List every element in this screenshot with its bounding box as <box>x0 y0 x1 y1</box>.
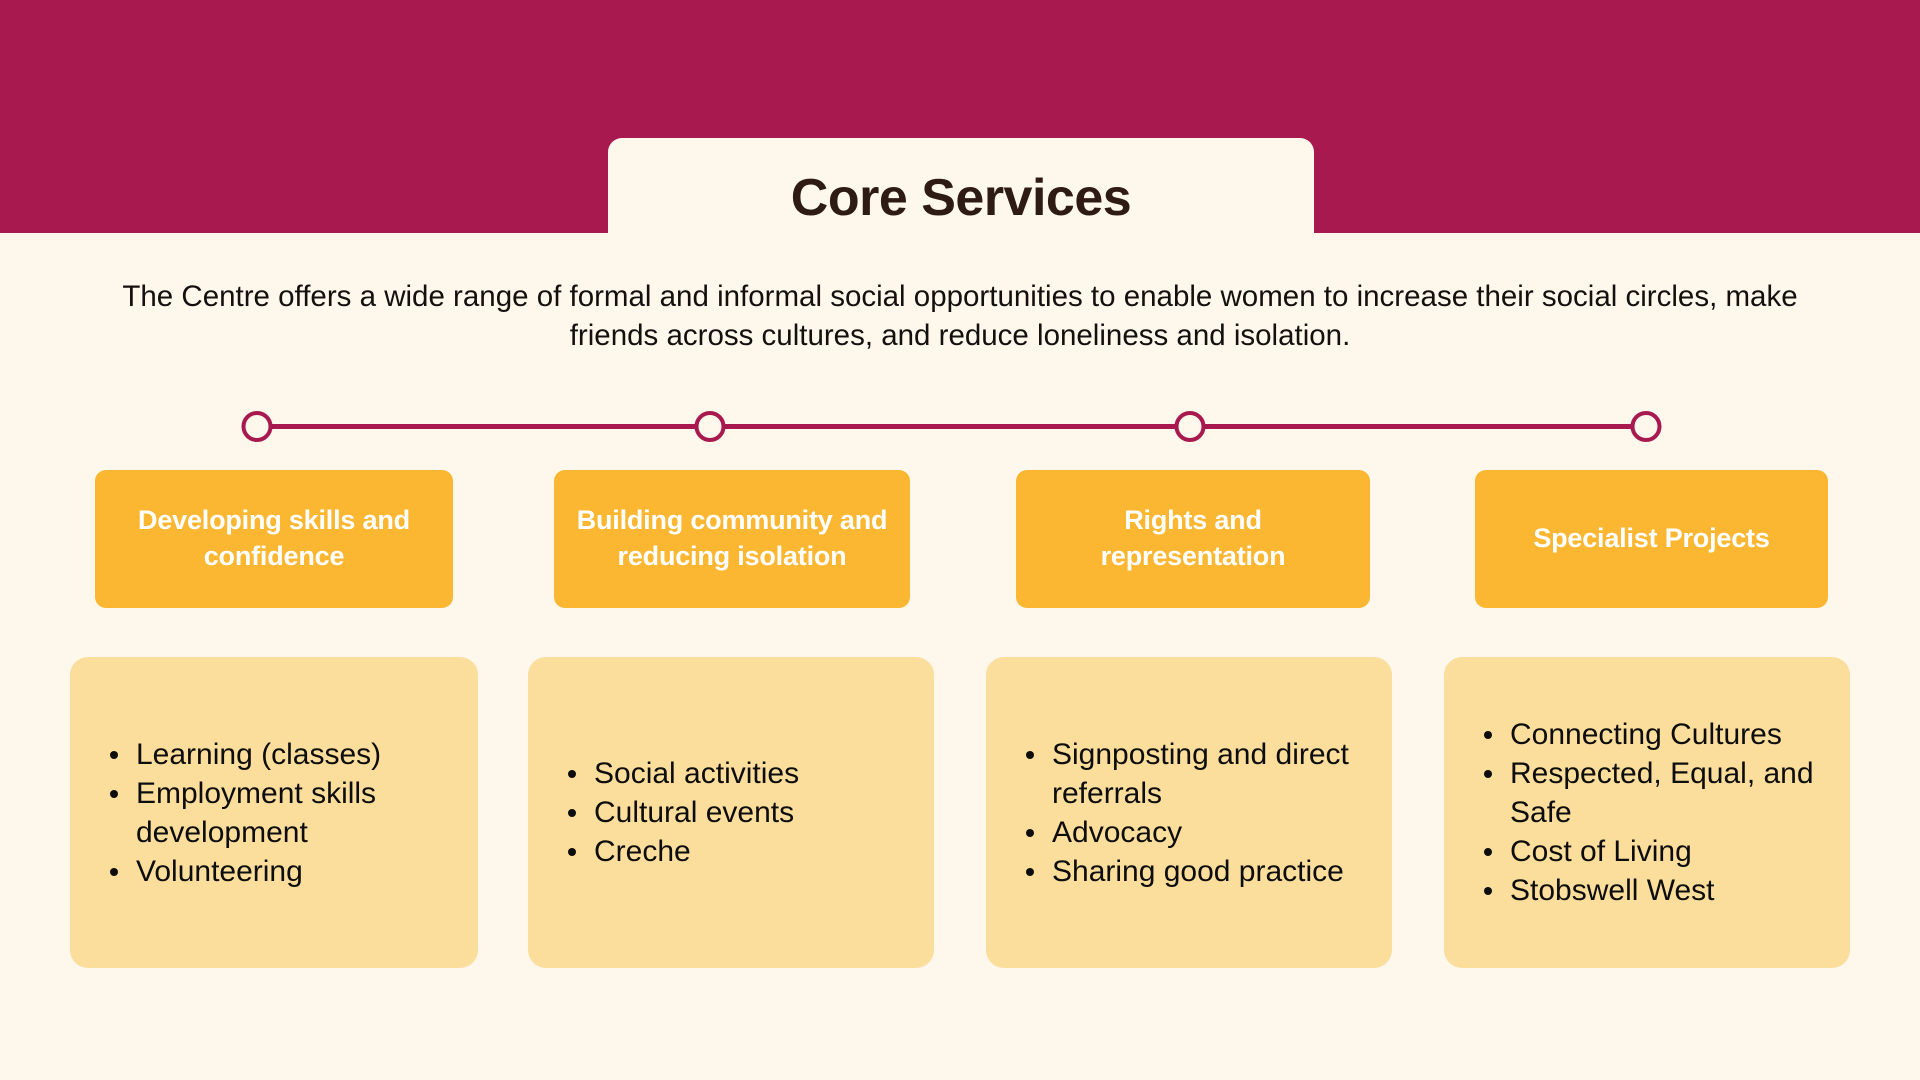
list-item: Learning (classes) <box>104 735 458 774</box>
list-item: Social activities <box>562 754 914 793</box>
service-header-label: Rights and representation <box>1030 503 1356 574</box>
list-item: Volunteering <box>104 852 458 891</box>
timeline <box>0 398 1920 458</box>
list-item: Cultural events <box>562 793 914 832</box>
service-header-label: Building community and reducing isolatio… <box>568 503 896 574</box>
service-header-label: Developing skills and confidence <box>109 503 439 574</box>
timeline-node-1 <box>242 411 273 442</box>
service-list-card-1: Learning (classes)Employment skills deve… <box>70 657 478 968</box>
service-header-card-4[interactable]: Specialist Projects <box>1475 470 1828 608</box>
timeline-node-3 <box>1175 411 1206 442</box>
service-header-label: Specialist Projects <box>1533 521 1769 557</box>
list-item: Creche <box>562 832 914 871</box>
timeline-line <box>257 424 1646 429</box>
timeline-node-2 <box>695 411 726 442</box>
service-bullet-list: Connecting CulturesRespected, Equal, and… <box>1478 715 1830 910</box>
intro-block: The Centre offers a wide range of formal… <box>90 278 1830 356</box>
list-item: Advocacy <box>1020 813 1372 852</box>
list-item: Connecting Cultures <box>1478 715 1830 754</box>
service-bullet-list: Learning (classes)Employment skills deve… <box>104 735 458 891</box>
service-list-card-3: Signposting and direct referralsAdvocacy… <box>986 657 1392 968</box>
service-header-card-1[interactable]: Developing skills and confidence <box>95 470 453 608</box>
service-header-card-3[interactable]: Rights and representation <box>1016 470 1370 608</box>
service-list-card-2: Social activitiesCultural eventsCreche <box>528 657 934 968</box>
list-item: Cost of Living <box>1478 832 1830 871</box>
list-item: Sharing good practice <box>1020 852 1372 891</box>
service-bullet-list: Signposting and direct referralsAdvocacy… <box>1020 735 1372 891</box>
timeline-node-4 <box>1631 411 1662 442</box>
list-item: Signposting and direct referrals <box>1020 735 1372 813</box>
intro-paragraph: The Centre offers a wide range of formal… <box>90 278 1830 356</box>
list-item: Respected, Equal, and Safe <box>1478 754 1830 832</box>
title-card: Core Services <box>608 138 1314 258</box>
list-item: Employment skills development <box>104 774 458 852</box>
page-title: Core Services <box>791 172 1131 224</box>
service-header-card-2[interactable]: Building community and reducing isolatio… <box>554 470 910 608</box>
service-bullet-list: Social activitiesCultural eventsCreche <box>562 754 914 871</box>
list-item: Stobswell West <box>1478 871 1830 910</box>
service-list-card-4: Connecting CulturesRespected, Equal, and… <box>1444 657 1850 968</box>
